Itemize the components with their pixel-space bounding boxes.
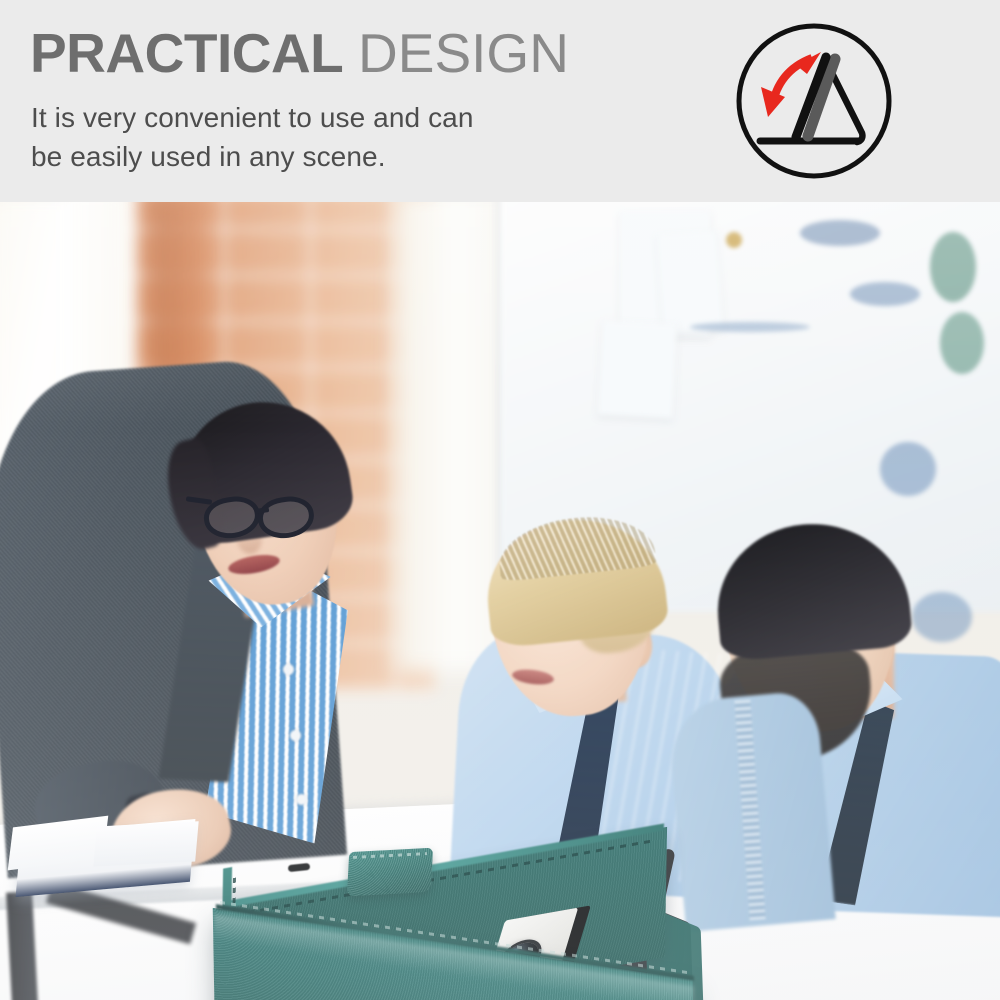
notebook-page-right <box>93 821 198 867</box>
shirt-button <box>296 794 307 805</box>
board-writing <box>930 232 976 302</box>
shirt-button <box>290 730 301 741</box>
subtitle-line-1: It is very convenient to use and can <box>31 98 631 137</box>
board-writing <box>690 322 810 332</box>
page-title: PRACTICAL DESIGN <box>30 22 569 84</box>
board-writing <box>800 220 880 246</box>
board-writing <box>912 592 972 642</box>
sticky-note <box>657 230 724 334</box>
headline-strong: PRACTICAL <box>30 22 343 84</box>
shirt-button <box>283 664 294 675</box>
adjustable-kickstand-angle-icon <box>734 21 894 181</box>
subtitle-line-2: be easily used in any scene. <box>31 137 631 176</box>
board-writing <box>880 442 936 496</box>
header-band: PRACTICAL DESIGN It is very convenient t… <box>0 0 1000 202</box>
board-writing <box>940 312 984 374</box>
product-marketing-page: PRACTICAL DESIGN It is very convenient t… <box>0 0 1000 1000</box>
magnet-pin <box>726 232 742 248</box>
lifestyle-photo <box>0 202 1000 1000</box>
subtitle: It is very convenient to use and can be … <box>31 98 631 176</box>
headline-light: DESIGN <box>358 22 569 84</box>
board-writing <box>850 282 920 306</box>
sticky-note <box>598 320 678 419</box>
